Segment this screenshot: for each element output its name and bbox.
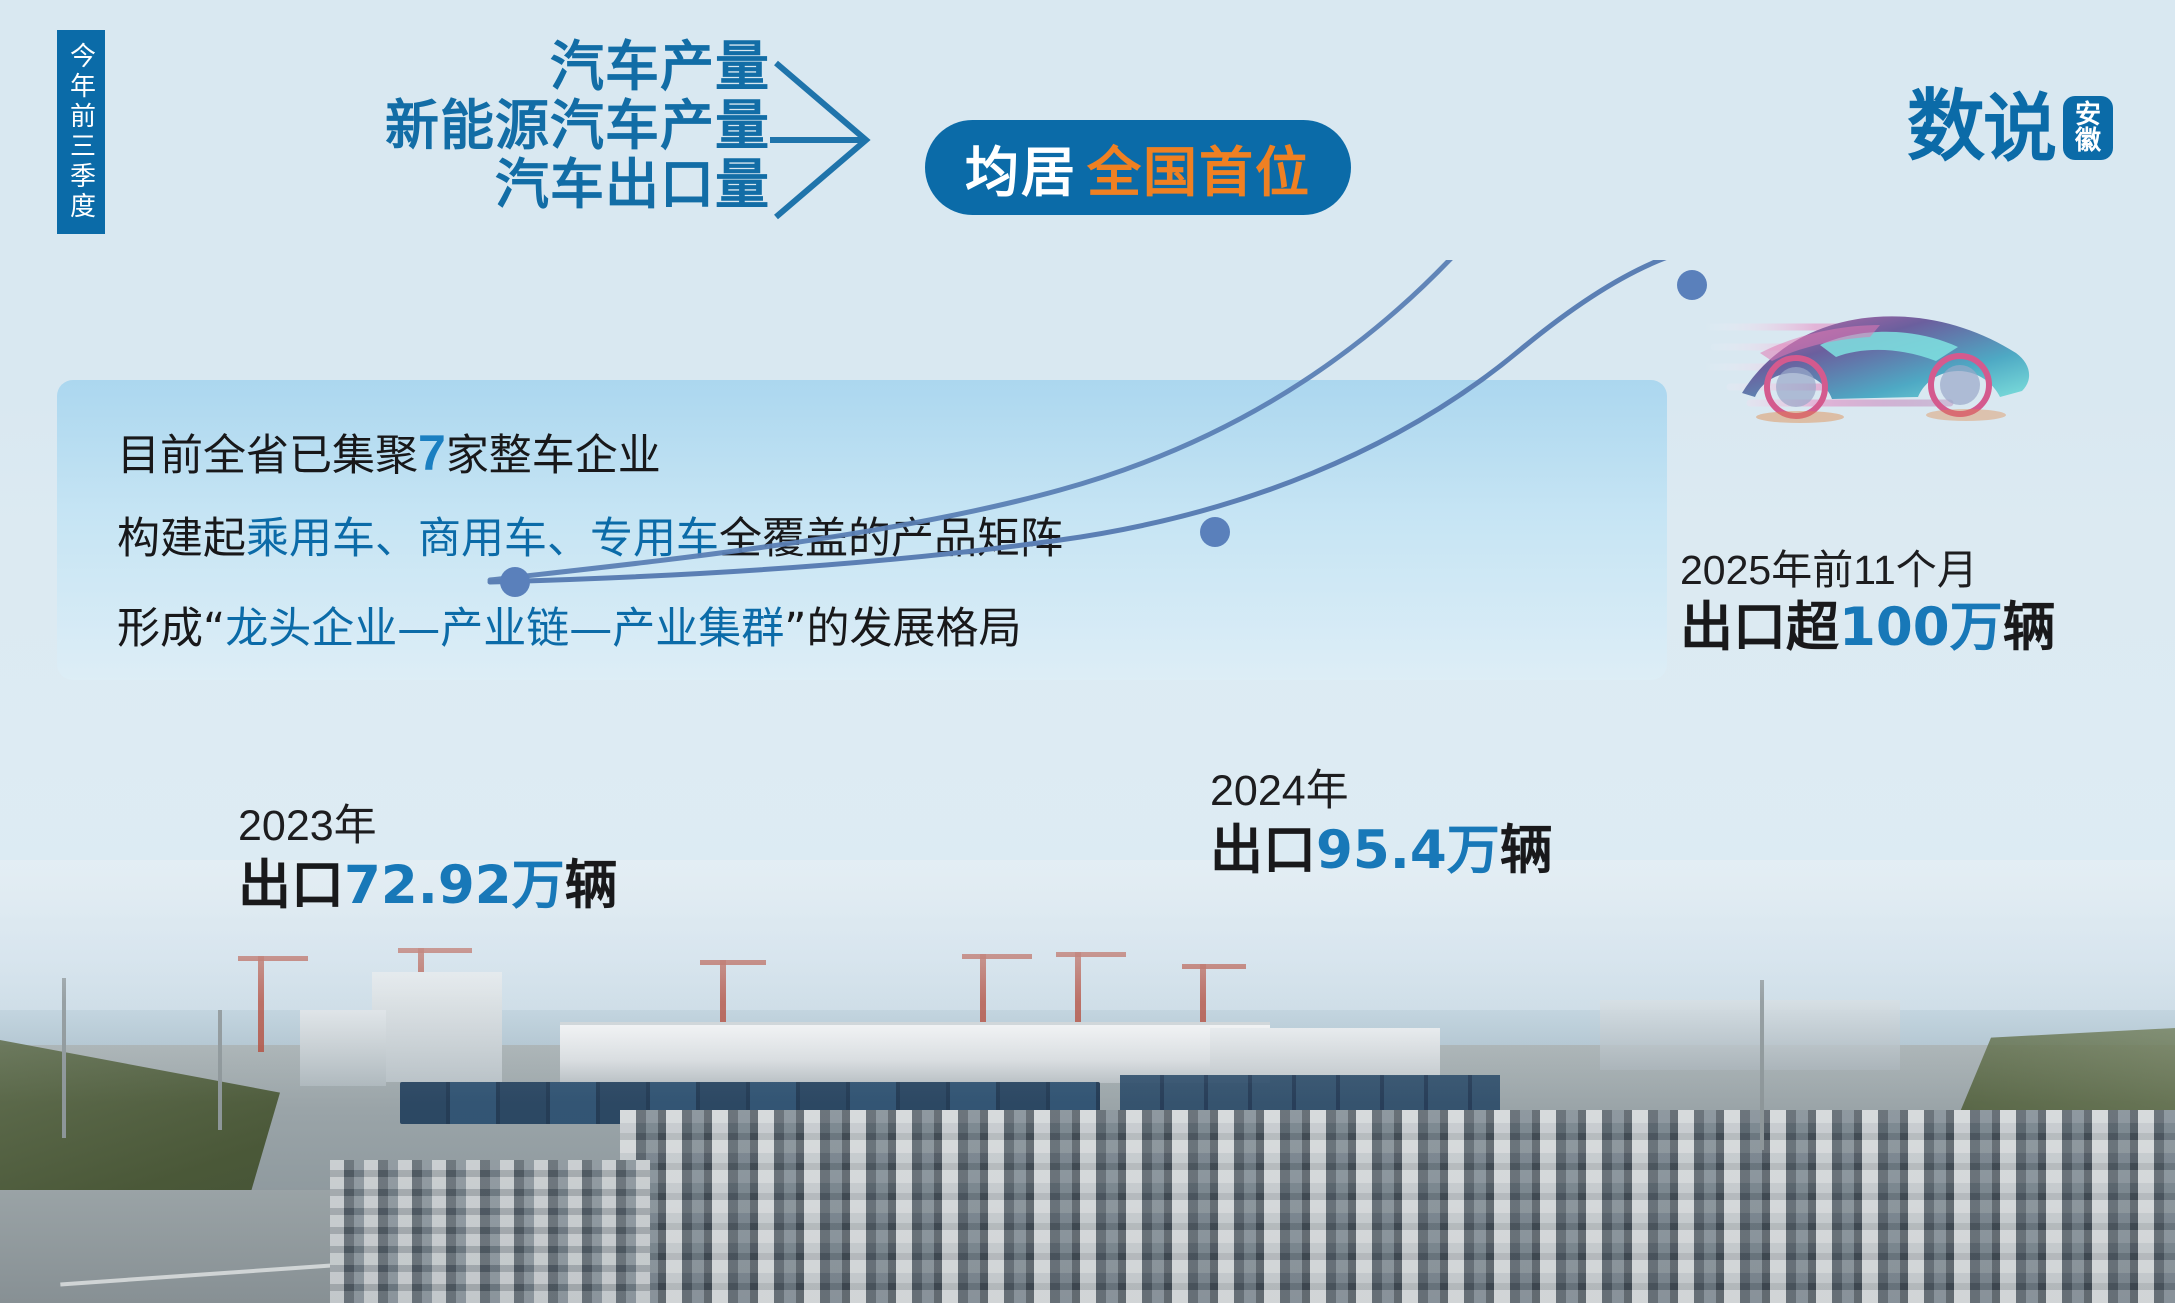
- data-label-2025-year: 2025年前11个月: [1680, 545, 2056, 596]
- data-label-2025-number: 100万: [1839, 597, 2003, 658]
- logo-char-1: 数: [1907, 90, 1983, 164]
- data-label-2025-suffix: 辆: [2003, 597, 2056, 658]
- data-label-2024-year: 2024年: [1210, 765, 1553, 819]
- logo-char-2: 说: [1983, 94, 2055, 164]
- data-label-2023-prefix: 出口: [238, 855, 344, 916]
- data-label-2023-year: 2023年: [238, 800, 618, 854]
- data-label-2023: 2023年 出口72.92万辆: [238, 800, 618, 918]
- data-point-2023: [500, 567, 530, 597]
- data-label-2025: 2025年前11个月 出口超100万辆: [1680, 545, 2056, 661]
- data-label-2023-number: 72.92万: [344, 855, 565, 916]
- port-photo-background: [0, 860, 2175, 1303]
- headline-line-1: 汽车产量: [180, 38, 770, 97]
- headline-group: 汽车产量 新能源汽车产量 汽车出口量: [180, 38, 770, 215]
- photo-haze-overlay: [0, 860, 2175, 1303]
- arrow-right-chevron-icon: [770, 55, 930, 225]
- data-label-2023-suffix: 辆: [565, 855, 618, 916]
- infographic-canvas: 今年前三季度 汽车产量 新能源汽车产量 汽车出口量 均居 全国首位 数 说 安徽…: [0, 0, 2175, 1303]
- data-label-2023-value: 出口72.92万辆: [238, 854, 618, 919]
- data-point-2024: [1200, 517, 1230, 547]
- data-label-2025-prefix: 出口超: [1680, 597, 1839, 658]
- data-label-2024-suffix: 辆: [1500, 820, 1553, 881]
- period-badge: 今年前三季度: [57, 30, 105, 234]
- data-label-2024: 2024年 出口95.4万辆: [1210, 765, 1553, 883]
- pill-prefix: 均居: [965, 128, 1077, 207]
- data-label-2024-prefix: 出口: [1210, 820, 1316, 881]
- pill-highlight: 全国首位: [1087, 128, 1311, 207]
- data-label-2025-value: 出口超100万辆: [1680, 596, 2056, 661]
- headline-line-3: 汽车出口量: [180, 156, 770, 215]
- data-label-2024-number: 95.4万: [1316, 820, 1500, 881]
- brand-logo: 数 说 安徽: [1907, 90, 2113, 164]
- logo-region-box: 安徽: [2063, 96, 2113, 160]
- headline-line-2: 新能源汽车产量: [180, 97, 770, 156]
- period-badge-label: 今年前三季度: [63, 42, 100, 222]
- status-badge: 均居 全国首位: [925, 120, 1351, 215]
- data-label-2024-value: 出口95.4万辆: [1210, 819, 1553, 884]
- sports-car-icon: [1700, 275, 2040, 425]
